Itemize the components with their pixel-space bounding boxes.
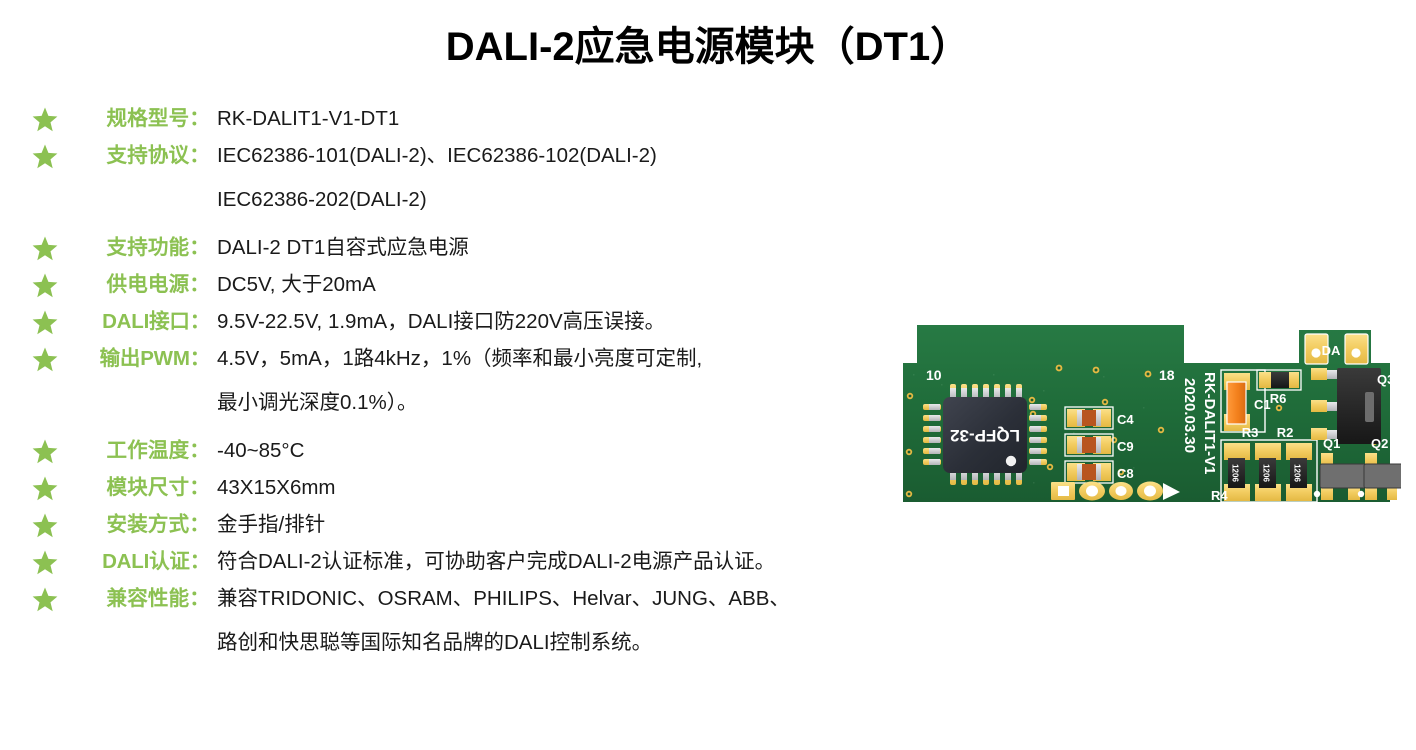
spec-value-line2: IEC62386-202(DALI-2) [217,185,900,215]
spec-value: 43X15X6mm [217,473,900,503]
spec-row: 安装方式： 金手指/排针 [0,510,900,540]
star-icon [32,107,62,132]
silk-pin-right: 18 [1159,367,1175,383]
star-icon [32,273,62,298]
silk-board-name: RK-DALIT1-V1 [1201,372,1218,475]
spec-value: 4.5V，5mA，1路4kHz，1%（频率和最小亮度可定制,最小调光深度0.1%… [217,344,900,418]
silk-label-r2: R2 [1277,425,1294,440]
spec-label: DALI接口： [62,307,210,337]
spec-value: 符合DALI-2认证标准，可协助客户完成DALI-2电源产品认证。 [217,547,900,577]
spec-value: DALI-2 DT1自容式应急电源 [217,233,900,263]
silk-label-chip: LQFP-32 [950,426,1020,445]
spec-label: 支持协议： [62,141,210,171]
spec-row: 支持功能： DALI-2 DT1自容式应急电源 [0,233,900,263]
spec-value-line1: 兼容TRIDONIC、OSRAM、PHILIPS、Helvar、JUNG、ABB… [217,587,790,610]
silk-label-c4: C4 [1117,412,1134,427]
silk-label-c9: C9 [1117,439,1134,454]
star-icon [32,236,62,261]
star-icon [32,310,62,335]
silk-label-q1: Q1 [1323,436,1340,451]
star-icon [32,347,62,372]
star-icon [32,144,62,169]
silk-label-c1: C1 [1254,397,1271,412]
silk-label-c8: C8 [1117,466,1134,481]
spec-label: DALI认证： [62,547,210,577]
spec-label: 安装方式： [62,510,210,540]
spec-row: DALI认证： 符合DALI-2认证标准，可协助客户完成DALI-2电源产品认证… [0,547,900,577]
spec-label: 规格型号： [62,104,210,134]
spec-row: 支持协议： IEC62386-101(DALI-2)、IEC62386-102(… [0,141,900,215]
silk-label-r6: R6 [1270,391,1287,406]
spec-row: 供电电源： DC5V, 大于20mA [0,270,900,300]
spec-value: 9.5V-22.5V, 1.9mA，DALI接口防220V高压误接。 [217,307,900,337]
silk-label-q2: Q2 [1371,436,1388,451]
spec-value: DC5V, 大于20mA [217,270,900,300]
spec-row: 输出PWM： 4.5V，5mA，1路4kHz，1%（频率和最小亮度可定制,最小调… [0,344,900,418]
spec-value: 金手指/排针 [217,510,900,540]
star-icon [32,587,62,612]
spec-value-line2: 路创和快思聪等国际知名品牌的DALI控制系统。 [217,628,900,658]
star-icon [32,513,62,538]
spec-label: 支持功能： [62,233,210,263]
silk-label-q3: Q3 [1377,372,1394,387]
spec-row: 规格型号： RK-DALIT1-V1-DT1 [0,104,900,134]
spec-value-line2: 最小调光深度0.1%）。 [217,388,900,418]
silk-resistor-code: 1206 [1262,464,1271,482]
spec-value: 兼容TRIDONIC、OSRAM、PHILIPS、Helvar、JUNG、ABB… [217,584,900,658]
spec-value-line1: 4.5V，5mA，1路4kHz，1%（频率和最小亮度可定制, [217,347,702,370]
spec-row: 工作温度： -40~85°C [0,436,900,466]
page-title: DALI-2应急电源模块（DT1） [0,14,1416,72]
silk-pin-left: 10 [926,367,942,383]
spec-value: -40~85°C [217,436,900,466]
silk-label-da: DA [1322,343,1341,358]
capacitor-group: C4 C9 C8 [1065,407,1134,483]
spec-value: IEC62386-101(DALI-2)、IEC62386-102(DALI-2… [217,141,900,215]
silk-board-date: 2020.03.30 [1181,378,1198,453]
silk-resistor-code: 1206 [1293,464,1302,482]
silk-label-r4: R4 [1211,488,1228,503]
spec-row: 模块尺寸： 43X15X6mm [0,473,900,503]
spec-row: 兼容性能： 兼容TRIDONIC、OSRAM、PHILIPS、Helvar、JU… [0,584,900,658]
star-icon [32,439,62,464]
spec-row: DALI接口： 9.5V-22.5V, 1.9mA，DALI接口防220V高压误… [0,307,900,337]
spec-label: 供电电源： [62,270,210,300]
spec-list: 规格型号： RK-DALIT1-V1-DT1 支持协议： IEC62386-10… [0,104,900,676]
star-icon [32,476,62,501]
spec-value: RK-DALIT1-V1-DT1 [217,104,900,134]
silk-resistor-code: 1206 [1231,464,1240,482]
pcb-board-image: DA 10 18 [893,312,1401,524]
silk-label-r3: R3 [1242,425,1259,440]
spec-value-line1: IEC62386-101(DALI-2)、IEC62386-102(DALI-2… [217,144,657,167]
spec-label: 输出PWM： [62,344,210,374]
spec-label: 工作温度： [62,436,210,466]
spec-label: 兼容性能： [62,584,210,614]
star-icon [32,550,62,575]
spec-label: 模块尺寸： [62,473,210,503]
